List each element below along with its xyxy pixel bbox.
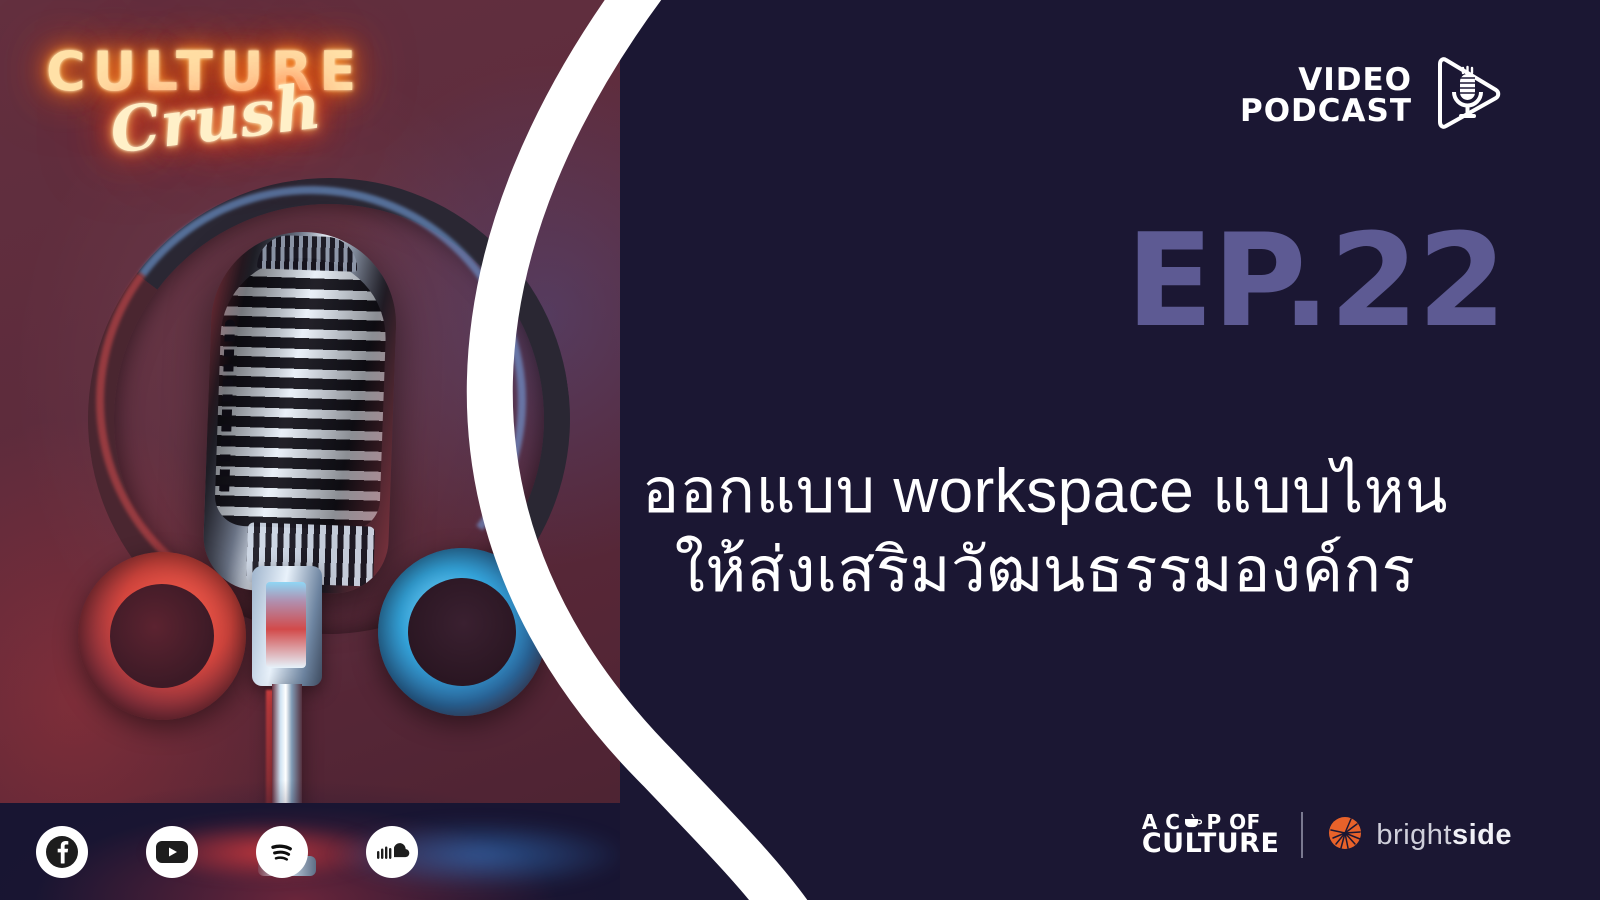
- brand-divider: [1301, 812, 1303, 858]
- video-podcast-label: VIDEO PODCAST: [1240, 65, 1412, 126]
- social-links: [36, 826, 418, 878]
- podcast-cover: CULTURE Crush VIDEO PODCAST EP.22 ออกแบบ…: [0, 0, 1600, 900]
- brightside-logo: brightside: [1325, 813, 1512, 858]
- badge-line-podcast: PODCAST: [1240, 96, 1412, 126]
- acoc-line-2: CULTURE: [1142, 832, 1280, 857]
- title-line-1: ออกแบบ workspace แบบไหน: [540, 452, 1550, 531]
- retro-microphone: [202, 229, 399, 595]
- footer-brands: A C P OF CULTURE: [1142, 812, 1512, 858]
- spotify-icon[interactable]: [256, 826, 308, 878]
- play-microphone-icon: [1426, 52, 1508, 139]
- facebook-icon[interactable]: [36, 826, 88, 878]
- microphone-yoke-core: [266, 582, 306, 668]
- youtube-icon[interactable]: [146, 826, 198, 878]
- a-cup-of-culture-logo: A C P OF CULTURE: [1142, 813, 1280, 857]
- microphone-yoke: [252, 566, 322, 686]
- episode-title: ออกแบบ workspace แบบไหน ให้ส่งเสริมวัฒนธ…: [540, 452, 1550, 611]
- brightside-sunburst-icon: [1325, 813, 1365, 858]
- brightside-bold-text: side: [1452, 819, 1512, 851]
- brightside-wordmark: brightside: [1376, 819, 1512, 852]
- culture-crush-logo: CULTURE Crush: [46, 40, 416, 190]
- soundcloud-icon[interactable]: [366, 826, 418, 878]
- brightside-light-text: bright: [1376, 819, 1452, 851]
- video-podcast-badge: VIDEO PODCAST: [1240, 52, 1508, 139]
- title-line-2: ให้ส่งเสริมวัฒนธรรมองค์กร: [540, 531, 1550, 610]
- episode-number: EP.22: [1126, 218, 1506, 346]
- badge-line-video: VIDEO: [1240, 65, 1412, 95]
